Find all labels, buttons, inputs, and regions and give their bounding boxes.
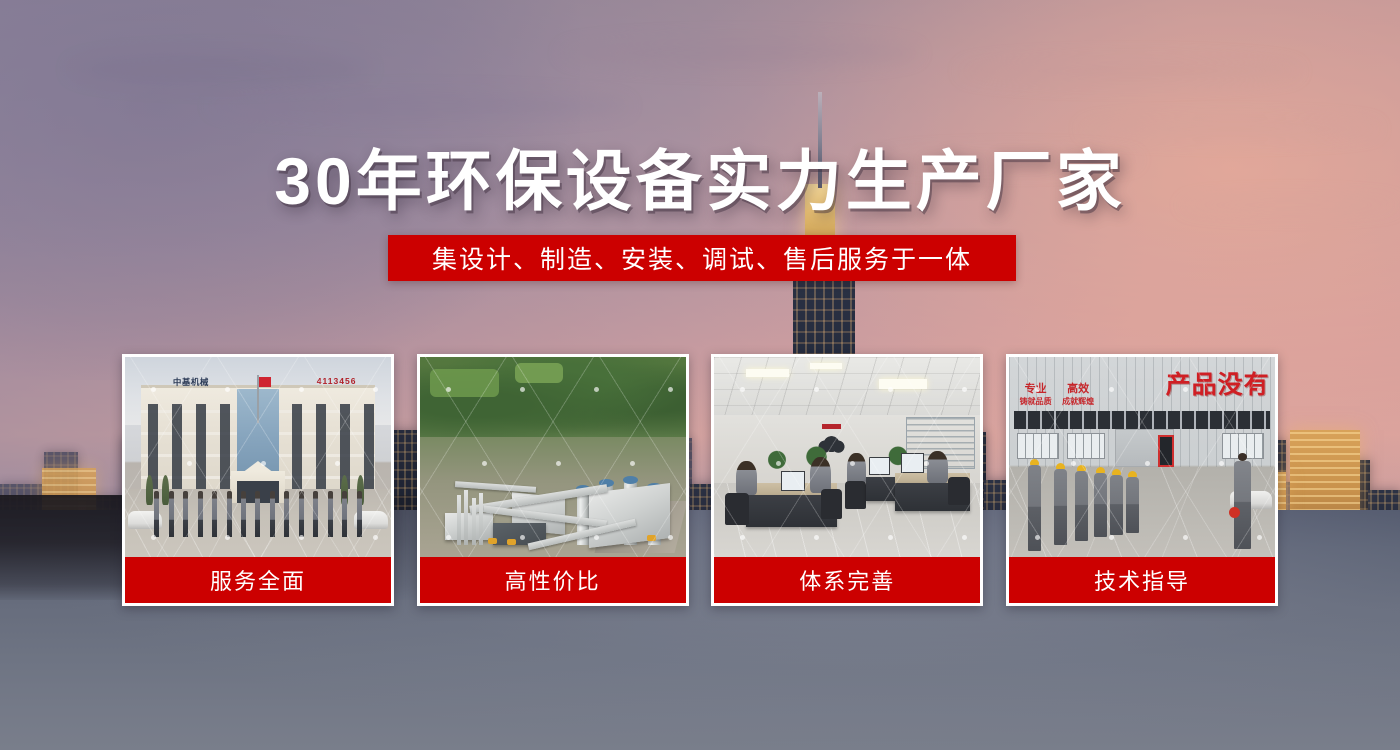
card-label: 体系完善	[714, 557, 980, 603]
card-label: 高性价比	[420, 557, 686, 603]
card-label: 服务全面	[125, 557, 391, 603]
subtitle-banner: 集设计、制造、安装、调试、售后服务于一体	[388, 235, 1016, 281]
worker-figure	[1126, 471, 1139, 533]
cloud	[960, 58, 1300, 84]
subtitle-text: 集设计、制造、安装、调试、售后服务于一体	[432, 240, 972, 276]
feature-card[interactable]: 体系完善	[711, 354, 983, 606]
card-photo-training: 产品没有 专业 铸就品质 高效 成就辉煌	[1009, 357, 1275, 557]
card-photo-service: 中基机械 4113456	[125, 357, 391, 557]
feature-card[interactable]: 高性价比	[417, 354, 689, 606]
cloud	[70, 52, 370, 86]
feature-card-list: 中基机械 4113456 服务全面	[122, 354, 1278, 606]
flag-icon	[257, 375, 259, 423]
building-sign-text: 中基机械	[173, 376, 209, 388]
feature-card[interactable]: 产品没有 专业 铸就品质 高效 成就辉煌	[1006, 354, 1278, 606]
worker-figure	[1094, 467, 1107, 537]
promo-banner: 30年环保设备实力生产厂家 集设计、制造、安装、调试、售后服务于一体	[0, 0, 1400, 750]
card-label: 技术指导	[1009, 557, 1275, 603]
factory-slogan-2: 高效	[1062, 383, 1094, 397]
worker-figure	[1110, 469, 1123, 535]
cloud	[210, 92, 630, 120]
supervisor-figure	[1234, 453, 1251, 549]
card-photo-plant	[420, 357, 686, 557]
factory-slogan-1-sub: 铸就品质	[1020, 397, 1052, 406]
feature-card[interactable]: 中基机械 4113456 服务全面	[122, 354, 394, 606]
card-photo-office	[714, 357, 980, 557]
factory-slogan-2-sub: 成就辉煌	[1062, 397, 1094, 406]
cloud	[560, 38, 920, 68]
worker-figure	[1075, 465, 1088, 541]
factory-sign-text: 产品没有	[1166, 365, 1270, 401]
building-phone-text: 4113456	[317, 376, 357, 386]
worker-figure	[1054, 463, 1067, 545]
page-title: 30年环保设备实力生产厂家	[0, 128, 1400, 224]
